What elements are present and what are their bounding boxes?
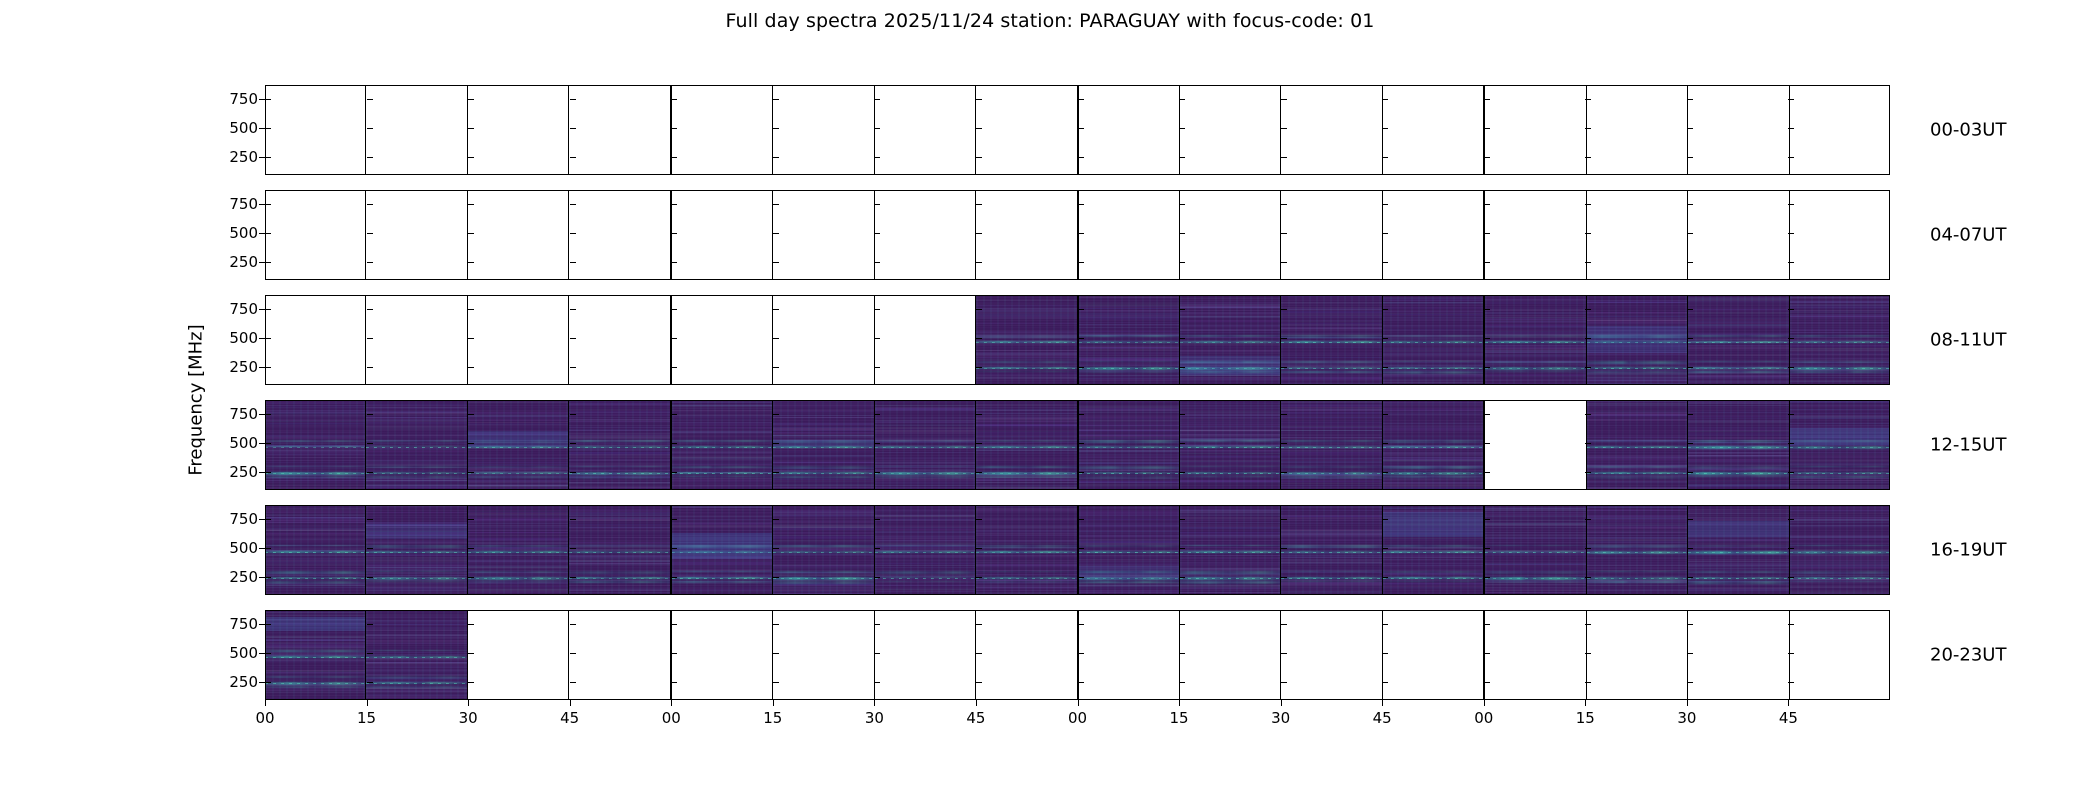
y-axis-tick-mark-inner: [1078, 338, 1084, 339]
spectrogram-cell-empty[interactable]: [1281, 610, 1382, 700]
y-axis-tick-mark-inner: [1687, 367, 1693, 368]
speckle-texture: [1180, 400, 1280, 490]
y-axis-tick-mark-inner: [1788, 157, 1794, 158]
speckle-texture: [1587, 400, 1687, 490]
speckle-texture: [1281, 400, 1381, 490]
spectrogram-cell-data[interactable]: [1079, 295, 1180, 385]
spectrogram-cell-empty[interactable]: [1485, 85, 1586, 175]
y-axis-tick-mark-inner: [874, 128, 880, 129]
spectrogram-cell-empty[interactable]: [875, 610, 976, 700]
speckle-texture: [1383, 400, 1483, 490]
speckle-texture: [1180, 295, 1280, 385]
spectrogram-cell-empty[interactable]: [1079, 85, 1180, 175]
y-axis-tick-mark-inner: [976, 414, 982, 415]
y-axis-tick-mark-inner: [468, 682, 474, 683]
spectrogram-cell-empty[interactable]: [468, 190, 569, 280]
y-axis-tick-mark-inner: [1179, 653, 1185, 654]
spectrogram-tile: [773, 400, 873, 490]
spectrogram-tile: [773, 505, 873, 595]
y-axis-tick-mark-inner: [773, 233, 779, 234]
spectrogram-cell-data[interactable]: [1587, 295, 1688, 385]
spectrogram-cell-data[interactable]: [1281, 295, 1382, 385]
y-axis-tick-mark-inner: [1179, 367, 1185, 368]
speckle-texture: [1485, 295, 1585, 385]
y-axis-tick-mark-inner: [671, 262, 677, 263]
speckle-texture: [1281, 295, 1381, 385]
spectrogram-cell-data[interactable]: [1180, 505, 1281, 595]
spectrogram-cell-empty[interactable]: [1688, 85, 1789, 175]
y-axis-tick-mark-inner: [1687, 548, 1693, 549]
spectrogram-cell-empty[interactable]: [1383, 190, 1485, 280]
y-axis-tick-label: 250: [229, 148, 258, 166]
y-axis-tick-mark-inner: [773, 443, 779, 444]
y-axis-tick-mark-inner: [1687, 653, 1693, 654]
y-axis-tick-mark-inner: [367, 472, 373, 473]
y-axis-tick-mark-inner: [570, 519, 576, 520]
spectrogram-cell-empty[interactable]: [366, 85, 467, 175]
y-axis-tick-mark-inner: [1585, 414, 1591, 415]
y-axis-tick-mark-inner: [671, 682, 677, 683]
y-axis-tick-mark-inner: [265, 548, 271, 549]
spectrogram-tile: [672, 505, 772, 595]
spectrogram-cell-empty[interactable]: [976, 610, 1078, 700]
y-axis-tick-mark-inner: [468, 414, 474, 415]
y-axis-tick-mark-inner: [265, 233, 271, 234]
y-axis-tick-mark-inner: [367, 309, 373, 310]
y-axis-tick-mark-inner: [1788, 519, 1794, 520]
spectrogram-tile: [1281, 295, 1381, 385]
spectrogram-cell-data[interactable]: [1790, 295, 1890, 385]
spectrogram-cell-empty[interactable]: [875, 190, 976, 280]
y-axis-tick-mark-inner: [1788, 414, 1794, 415]
y-axis-tick-mark-inner: [1179, 157, 1185, 158]
spectrogram-cell-data[interactable]: [1485, 505, 1586, 595]
x-axis-tick-mark: [265, 700, 266, 706]
spectrogram-cell-empty[interactable]: [672, 295, 773, 385]
spectrogram-cell-empty[interactable]: [773, 85, 874, 175]
y-axis-tick-mark-inner: [671, 548, 677, 549]
spectrogram-tile: [1587, 295, 1687, 385]
speckle-texture: [773, 400, 873, 490]
spectrogram-cell-data[interactable]: [1383, 295, 1485, 385]
y-axis-tick-mark-inner: [773, 548, 779, 549]
y-axis-tick-mark-inner: [1382, 414, 1388, 415]
spectrogram-cell-empty[interactable]: [1688, 190, 1789, 280]
spectrogram-cell-empty[interactable]: [672, 610, 773, 700]
spectrogram-cell-data[interactable]: [1383, 400, 1485, 490]
y-axis-tick-mark-inner: [468, 548, 474, 549]
spectrogram-tile: [1790, 400, 1890, 490]
spectrogram-cell-data[interactable]: [468, 400, 569, 490]
y-axis-tick-mark-inner: [1382, 262, 1388, 263]
y-axis-tick-label: 500: [229, 329, 258, 347]
y-axis-tick-mark-inner: [1179, 443, 1185, 444]
spectrogram-cell-empty[interactable]: [1587, 190, 1688, 280]
y-axis-tick-mark-inner: [367, 653, 373, 654]
spectrogram-cell-empty[interactable]: [1180, 610, 1281, 700]
y-axis-tick-mark-inner: [570, 653, 576, 654]
y-axis-tick-mark-inner: [1179, 128, 1185, 129]
y-axis-tick-mark-inner: [1179, 577, 1185, 578]
speckle-texture: [976, 295, 1076, 385]
spectrogram-row: 75050025008-11UT: [265, 295, 1890, 385]
y-axis-tick-mark-inner: [1382, 682, 1388, 683]
y-axis-tick-mark-inner: [367, 157, 373, 158]
y-axis-tick-mark-inner: [1484, 128, 1490, 129]
spectrogram-cell-empty[interactable]: [569, 610, 671, 700]
spectrogram-cell-empty[interactable]: [569, 190, 671, 280]
spectrogram-cell-empty[interactable]: [265, 190, 366, 280]
spectrogram-tile: [265, 400, 365, 490]
spectrogram-cell-data[interactable]: [1383, 505, 1485, 595]
spectrogram-cell-data[interactable]: [468, 505, 569, 595]
y-axis-tick-mark-inner: [265, 472, 271, 473]
spectrogram-cell-empty[interactable]: [672, 85, 773, 175]
speckle-texture: [265, 610, 365, 700]
speckle-texture: [569, 505, 669, 595]
spectrogram-cell-empty[interactable]: [468, 85, 569, 175]
y-axis-tick-mark-inner: [773, 338, 779, 339]
y-axis-tick-mark-inner: [570, 624, 576, 625]
spectrogram-cell-data[interactable]: [875, 505, 976, 595]
y-axis-tick-mark-inner: [570, 472, 576, 473]
x-axis-tick-mark: [367, 700, 368, 706]
spectrogram-cell-data[interactable]: [1790, 400, 1890, 490]
y-axis-tick-mark-inner: [976, 653, 982, 654]
spectrogram-cell-empty[interactable]: [1587, 85, 1688, 175]
y-axis-tick-mark-inner: [1484, 577, 1490, 578]
y-axis-tick-mark-inner: [1281, 367, 1287, 368]
spectrogram-cell-empty[interactable]: [1485, 400, 1586, 490]
speckle-texture: [1688, 295, 1788, 385]
y-axis-tick-mark-inner: [1078, 443, 1084, 444]
spectrogram-cell-data[interactable]: [366, 610, 467, 700]
spectrogram-cell-data[interactable]: [1688, 295, 1789, 385]
speckle-texture: [1587, 505, 1687, 595]
y-axis-tick-mark-inner: [773, 653, 779, 654]
spectrogram-cell-data[interactable]: [976, 295, 1078, 385]
y-axis-tick-mark-inner: [1788, 577, 1794, 578]
y-axis-tick-mark-inner: [570, 548, 576, 549]
y-axis-tick-label: 750: [229, 615, 258, 633]
y-axis-tick-mark-inner: [976, 99, 982, 100]
spectrogram-cell-data[interactable]: [1079, 505, 1180, 595]
spectrogram-cell-empty[interactable]: [1688, 610, 1789, 700]
y-axis-tick-mark-inner: [570, 99, 576, 100]
spectrogram-cell-data[interactable]: [1281, 505, 1382, 595]
spectrogram-cell-empty[interactable]: [1079, 610, 1180, 700]
y-axis-tick-mark-inner: [570, 577, 576, 578]
spectrogram-cell-empty[interactable]: [1383, 85, 1485, 175]
y-axis-tick-mark-inner: [874, 367, 880, 368]
spectrogram-cell-empty[interactable]: [976, 85, 1078, 175]
spectrogram-cell-data[interactable]: [265, 610, 366, 700]
y-axis-tick-mark-inner: [1687, 262, 1693, 263]
y-axis-tick-mark-inner: [1585, 128, 1591, 129]
y-axis-tick-mark-inner: [367, 443, 373, 444]
y-axis-tick-mark-inner: [976, 624, 982, 625]
spectrogram-cell-empty[interactable]: [1079, 190, 1180, 280]
y-axis-tick-mark-inner: [874, 472, 880, 473]
y-axis-tick-mark-inner: [1484, 653, 1490, 654]
x-axis-tick-mark: [671, 700, 672, 706]
y-axis-tick-mark-inner: [265, 682, 271, 683]
y-axis-tick-mark-inner: [874, 338, 880, 339]
speckle-texture: [1688, 400, 1788, 490]
y-axis-tick-mark-inner: [1281, 262, 1287, 263]
spectrogram-cell-empty[interactable]: [468, 295, 569, 385]
spectrogram-cell-empty[interactable]: [1790, 610, 1890, 700]
spectrogram-grid: 75050025000-03UT75050025004-07UT75050025…: [265, 85, 1890, 700]
y-axis-tick-mark-inner: [265, 519, 271, 520]
y-axis-tick-mark-inner: [671, 577, 677, 578]
y-axis-tick-mark-inner: [1585, 367, 1591, 368]
y-axis-tick-mark-inner: [468, 653, 474, 654]
y-axis-tick-mark-inner: [1788, 233, 1794, 234]
y-axis-tick-mark-inner: [1484, 233, 1490, 234]
spectrogram-cell-data[interactable]: [1485, 295, 1586, 385]
y-axis-tick-mark-inner: [773, 204, 779, 205]
y-axis-tick-mark-inner: [1382, 577, 1388, 578]
spectrogram-cell-data[interactable]: [976, 505, 1078, 595]
y-axis-tick-mark-inner: [1281, 443, 1287, 444]
x-axis-tick-mark: [874, 700, 875, 706]
y-axis-tick-mark-inner: [773, 624, 779, 625]
speckle-texture: [569, 400, 669, 490]
x-axis-tick-mark: [1687, 700, 1688, 706]
y-axis-tick-mark-inner: [773, 472, 779, 473]
spectrogram-tile: [1281, 400, 1381, 490]
spectrogram-cell-empty[interactable]: [569, 85, 671, 175]
y-axis-tick-mark-inner: [1281, 653, 1287, 654]
y-axis-tick-mark-inner: [976, 443, 982, 444]
y-axis-tick-mark-inner: [1281, 157, 1287, 158]
y-axis-tick-mark-inner: [1585, 519, 1591, 520]
y-axis-tick-mark-inner: [1382, 157, 1388, 158]
y-axis-tick-mark-inner: [1687, 309, 1693, 310]
y-axis-tick-mark-inner: [874, 262, 880, 263]
spectrogram-cell-data[interactable]: [366, 400, 467, 490]
spectrogram-tile: [1383, 505, 1483, 595]
spectrogram-tile: [1587, 505, 1687, 595]
spectrogram-tile: [265, 505, 365, 595]
y-axis-tick-mark-inner: [1281, 414, 1287, 415]
y-axis-tick-mark-inner: [1078, 99, 1084, 100]
y-axis-tick-mark-inner: [1179, 548, 1185, 549]
spectrogram-cell-data[interactable]: [773, 400, 874, 490]
spectrogram-cell-data[interactable]: [1281, 400, 1382, 490]
y-axis-tick-mark-inner: [671, 157, 677, 158]
spectrogram-cell-empty[interactable]: [1587, 610, 1688, 700]
y-axis-tick-label: 500: [229, 434, 258, 452]
spectrogram-tile: [366, 400, 466, 490]
spectrogram-tile: [1485, 295, 1585, 385]
spectrogram-cell-empty[interactable]: [265, 295, 366, 385]
y-axis-tick-mark-inner: [1281, 128, 1287, 129]
spectrogram-cell-empty[interactable]: [1383, 610, 1485, 700]
y-axis-tick-mark-inner: [468, 367, 474, 368]
y-axis-tick-mark-inner: [265, 624, 271, 625]
y-axis-tick-mark-inner: [1484, 367, 1490, 368]
y-axis-tick-mark-inner: [265, 653, 271, 654]
y-axis-tick-mark-inner: [570, 367, 576, 368]
y-axis-tick-mark-inner: [1281, 624, 1287, 625]
y-axis-tick-mark-inner: [1078, 233, 1084, 234]
y-axis-tick-mark-inner: [1687, 204, 1693, 205]
spectrogram-cell-empty[interactable]: [1281, 85, 1382, 175]
y-axis-tick-mark-inner: [468, 99, 474, 100]
y-axis-tick-mark-inner: [1078, 472, 1084, 473]
spectrogram-cell-empty[interactable]: [672, 190, 773, 280]
y-axis-tick-mark-inner: [367, 682, 373, 683]
y-axis-tick-mark-inner: [1382, 548, 1388, 549]
spectrogram-cell-empty[interactable]: [366, 190, 467, 280]
y-axis-tick-mark-inner: [1078, 367, 1084, 368]
spectrogram-cell-data[interactable]: [1180, 400, 1281, 490]
spectrogram-tile: [875, 400, 975, 490]
y-axis-tick-mark-inner: [468, 338, 474, 339]
y-axis-tick-label: 500: [229, 644, 258, 662]
y-axis-tick-mark-inner: [1382, 367, 1388, 368]
spectrogram-cell-data[interactable]: [773, 505, 874, 595]
y-axis-tick-mark-inner: [367, 577, 373, 578]
y-axis-tick-mark-inner: [1078, 548, 1084, 549]
y-axis-tick-mark-inner: [1687, 414, 1693, 415]
y-axis-tick-mark-inner: [671, 309, 677, 310]
spectrogram-cell-empty[interactable]: [366, 295, 467, 385]
spectrogram-tile: [468, 400, 568, 490]
y-axis-tick-mark-inner: [570, 309, 576, 310]
spectrogram-row: 75050025016-19UT: [265, 505, 1890, 595]
y-axis-tick-mark-inner: [1382, 443, 1388, 444]
spectrogram-cell-empty[interactable]: [1180, 85, 1281, 175]
row-time-label: 04-07UT: [1930, 225, 2006, 246]
spectrogram-cell-empty[interactable]: [1281, 190, 1382, 280]
spectrogram-cell-data[interactable]: [976, 400, 1078, 490]
spectrogram-cell-data[interactable]: [1079, 400, 1180, 490]
spectrogram-cell-empty[interactable]: [1790, 85, 1890, 175]
y-axis-tick-mark-inner: [1179, 309, 1185, 310]
speckle-texture: [1383, 505, 1483, 595]
y-axis-tick-mark-inner: [1484, 204, 1490, 205]
y-axis-tick-mark-inner: [671, 204, 677, 205]
speckle-texture: [1587, 295, 1687, 385]
spectrogram-tile: [976, 295, 1076, 385]
speckle-texture: [1180, 505, 1280, 595]
y-axis-tick-mark-inner: [1281, 309, 1287, 310]
y-axis-tick-mark-inner: [1687, 682, 1693, 683]
spectrogram-cell-empty[interactable]: [875, 295, 976, 385]
y-axis-tick-mark-inner: [1788, 262, 1794, 263]
speckle-texture: [366, 610, 466, 700]
spectrogram-cell-empty[interactable]: [773, 610, 874, 700]
y-axis-tick-mark-inner: [367, 338, 373, 339]
y-axis-tick-mark-inner: [874, 443, 880, 444]
spectrogram-cell-empty[interactable]: [468, 610, 569, 700]
spectrogram-cell-empty[interactable]: [569, 295, 671, 385]
spectrogram-cell-empty[interactable]: [1485, 190, 1586, 280]
spectrogram-cell-empty[interactable]: [1790, 190, 1890, 280]
y-axis-tick-mark-inner: [570, 128, 576, 129]
y-axis-tick-mark-inner: [976, 682, 982, 683]
y-axis-label: Frequency [MHz]: [186, 324, 207, 475]
y-axis-tick-mark-inner: [265, 157, 271, 158]
spectrogram-tile: [366, 505, 466, 595]
page-title: Full day spectra 2025/11/24 station: PAR…: [0, 10, 2100, 32]
y-axis-tick-mark-inner: [570, 338, 576, 339]
spectrogram-cell-empty[interactable]: [773, 190, 874, 280]
y-axis-tick-mark-inner: [1078, 682, 1084, 683]
spectrogram-cell-data[interactable]: [672, 505, 773, 595]
spectrogram-cell-empty[interactable]: [773, 295, 874, 385]
spectrogram-cell-data[interactable]: [569, 400, 671, 490]
y-axis-tick-mark-inner: [671, 443, 677, 444]
y-axis-tick-mark-inner: [976, 472, 982, 473]
y-axis-tick-mark-inner: [976, 309, 982, 310]
y-axis-tick-mark-inner: [1179, 472, 1185, 473]
y-axis-tick-mark-inner: [1687, 157, 1693, 158]
spectrogram-cell-data[interactable]: [1790, 505, 1890, 595]
y-axis-tick-mark-inner: [671, 519, 677, 520]
y-axis-tick-mark-inner: [367, 128, 373, 129]
spectrogram-tile: [265, 610, 365, 700]
spectrogram-tile: [1281, 505, 1381, 595]
y-axis-tick-mark-inner: [570, 414, 576, 415]
y-axis-tick-mark-inner: [1788, 309, 1794, 310]
y-axis-tick-mark-inner: [570, 262, 576, 263]
spectrogram-cell-data[interactable]: [265, 400, 366, 490]
spectrogram-cell-empty[interactable]: [875, 85, 976, 175]
speckle-texture: [468, 400, 568, 490]
spectrogram-cell-data[interactable]: [672, 400, 773, 490]
y-axis-tick-mark-inner: [976, 519, 982, 520]
spectrogram-cell-data[interactable]: [875, 400, 976, 490]
spectrogram-cell-data[interactable]: [569, 505, 671, 595]
y-axis-tick-mark-inner: [773, 367, 779, 368]
y-axis-tick-mark-inner: [1281, 682, 1287, 683]
y-axis-tick-mark-inner: [1078, 624, 1084, 625]
y-axis-tick-mark-inner: [1078, 577, 1084, 578]
spectrogram-cell-data[interactable]: [265, 505, 366, 595]
spectrogram-tile: [1790, 295, 1890, 385]
y-axis-tick-mark-inner: [570, 443, 576, 444]
y-axis-tick-mark-inner: [1687, 338, 1693, 339]
speckle-texture: [1790, 400, 1890, 490]
speckle-texture: [1079, 295, 1179, 385]
speckle-texture: [1079, 400, 1179, 490]
spectrogram-cell-empty[interactable]: [1485, 610, 1586, 700]
y-axis-tick-mark-inner: [1788, 624, 1794, 625]
spectrogram-cell-data[interactable]: [366, 505, 467, 595]
spectrogram-cell-data[interactable]: [1688, 505, 1789, 595]
x-axis-tick-mark: [773, 700, 774, 706]
spectrogram-tile: [875, 505, 975, 595]
y-axis-tick-mark-inner: [1078, 262, 1084, 263]
spectrogram-cell-data[interactable]: [1180, 295, 1281, 385]
spectrogram-cell-data[interactable]: [1587, 400, 1688, 490]
spectrogram-cell-empty[interactable]: [976, 190, 1078, 280]
spectrogram-tile: [1079, 295, 1179, 385]
y-axis-tick-mark-inner: [671, 338, 677, 339]
spectrogram-cell-empty[interactable]: [265, 85, 366, 175]
y-axis-tick-mark-inner: [1687, 443, 1693, 444]
y-axis-tick-mark-inner: [468, 519, 474, 520]
y-axis-tick-label: 750: [229, 90, 258, 108]
spectrogram-cell-empty[interactable]: [1180, 190, 1281, 280]
spectrogram-cell-data[interactable]: [1587, 505, 1688, 595]
spectrogram-cell-data[interactable]: [1688, 400, 1789, 490]
y-axis-tick-mark-inner: [1585, 262, 1591, 263]
